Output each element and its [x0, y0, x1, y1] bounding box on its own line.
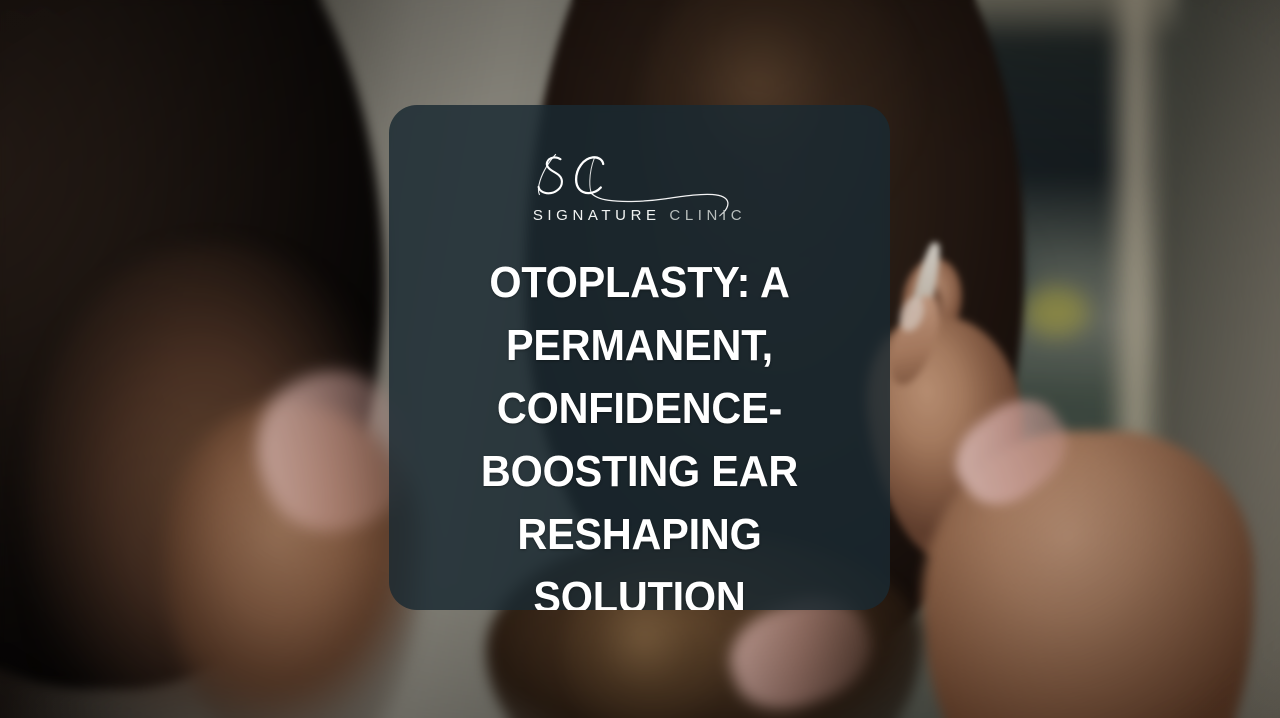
hero-overlay-card: SIGNATURE CLINIC OTOPLASTY: A PERMANENT,… — [389, 105, 890, 610]
background-blur-blob-yellow — [1024, 287, 1088, 337]
hero-banner: SIGNATURE CLINIC OTOPLASTY: A PERMANENT,… — [0, 0, 1280, 718]
signature-clinic-logo[interactable]: SIGNATURE CLINIC — [524, 145, 756, 229]
logo-wordmark-clinic: CLINIC — [669, 207, 746, 224]
page-title: OTOPLASTY: A PERMANENT, CONFIDENCE-BOOST… — [428, 251, 850, 610]
logo-wordmark-signature: SIGNATURE — [533, 207, 661, 224]
logo-wordmark: SIGNATURE CLINIC — [524, 208, 756, 223]
